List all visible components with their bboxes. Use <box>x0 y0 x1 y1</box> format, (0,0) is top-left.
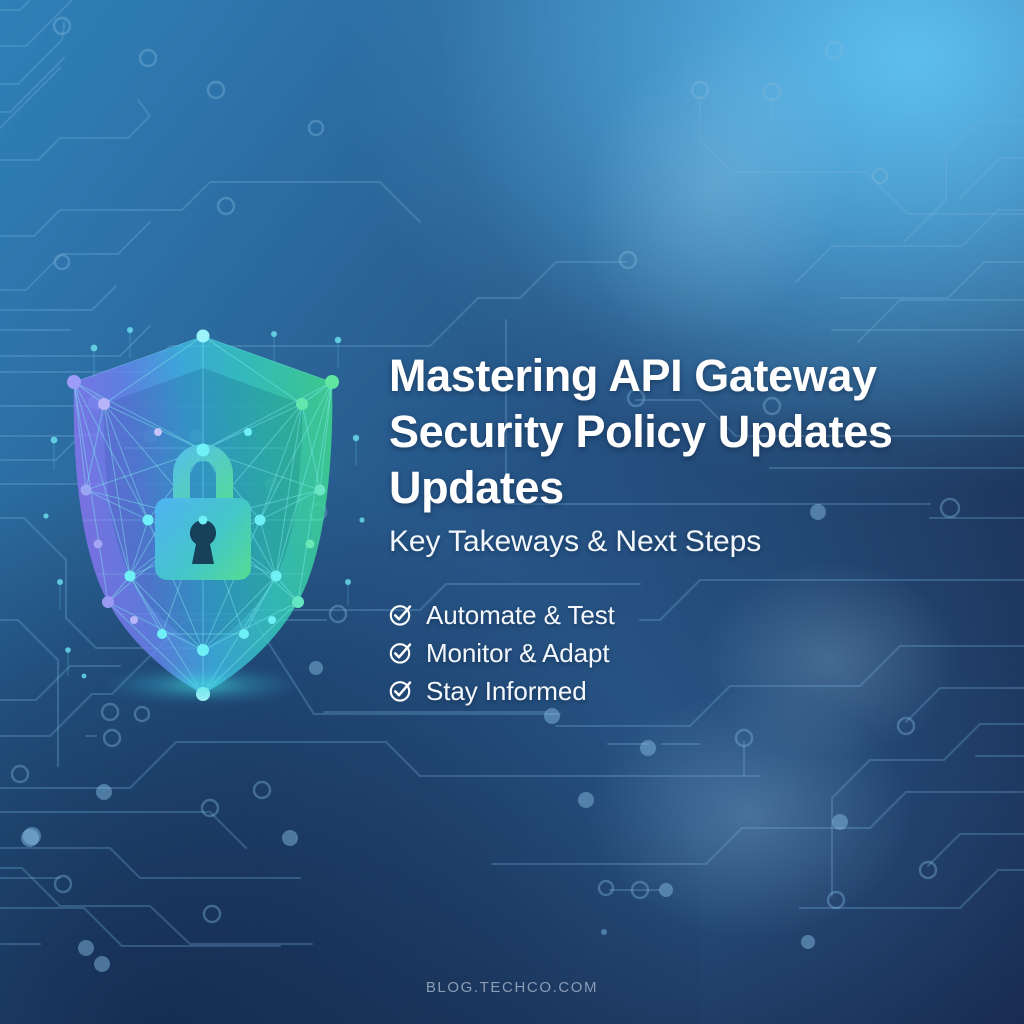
page-subtitle: Key Takeways & Next Steps <box>389 523 969 561</box>
list-item-label: Automate & Test <box>426 601 615 629</box>
check-circle-icon <box>389 641 413 665</box>
list-item: Stay Informed <box>389 677 969 705</box>
check-circle-icon <box>389 679 413 703</box>
page-title: Mastering API Gateway Security Policy Up… <box>389 348 969 516</box>
takeaways-list: Automate & Test Monitor & Adapt <box>389 601 969 705</box>
light-streak-top <box>528 0 900 389</box>
text-block: Mastering API Gateway Security Policy Up… <box>389 348 969 715</box>
social-card-canvas: Mastering API Gateway Security Policy Up… <box>0 0 1024 1024</box>
list-item: Monitor & Adapt <box>389 639 969 667</box>
list-item-label: Stay Informed <box>426 677 587 705</box>
list-item: Automate & Test <box>389 601 969 629</box>
footer-url: BLOG.TECHCO.COM <box>0 979 1024 996</box>
shield-illustration <box>38 320 368 710</box>
list-item-label: Monitor & Adapt <box>426 639 610 667</box>
check-circle-icon <box>389 603 413 627</box>
light-streak-bottom-right <box>584 690 914 940</box>
